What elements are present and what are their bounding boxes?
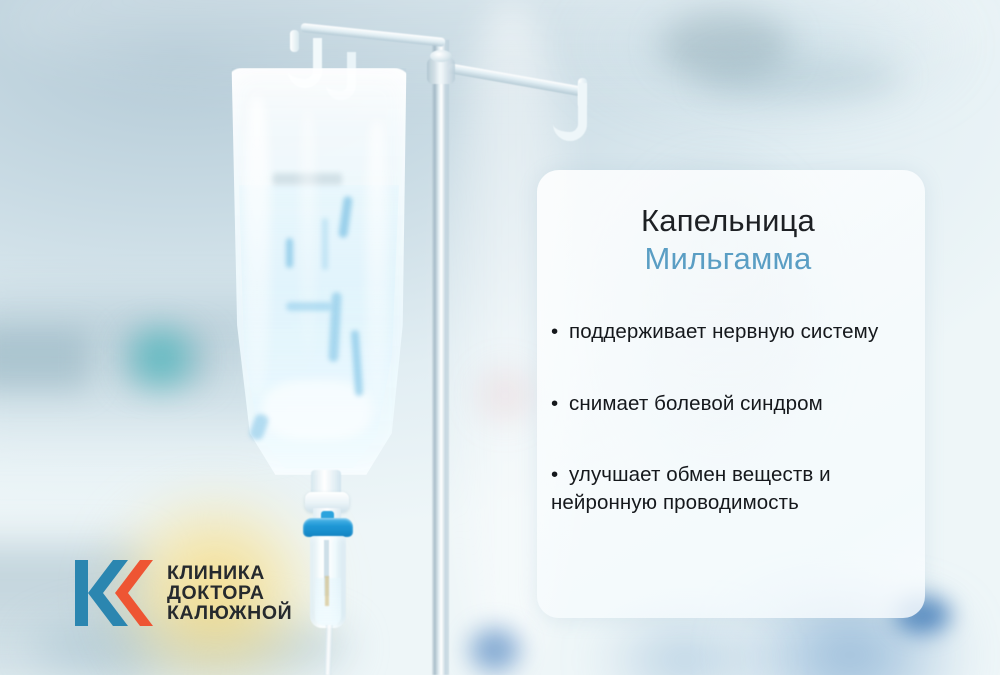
clinic-logo-text: КЛИНИКА ДОКТОРА КАЛЮЖНОЙ bbox=[167, 563, 292, 624]
drip-chamber-filter bbox=[325, 576, 329, 606]
background-blur-cabinet-panel-left bbox=[0, 330, 90, 390]
promo-banner: Капельница Мильгамма •поддерживает нервн… bbox=[0, 0, 1000, 675]
background-blur-pink-dot bbox=[470, 360, 540, 430]
background-blur-blue-dot-center bbox=[470, 628, 520, 672]
iv-bag-blue-mark-2 bbox=[286, 238, 293, 268]
bullet-dot-icon: • bbox=[551, 318, 569, 346]
benefit-item-3: •улучшает обмен веществ и нейронную пров… bbox=[551, 461, 911, 517]
clinic-logo-line1: КЛИНИКА bbox=[167, 563, 292, 583]
benefits-list: •поддерживает нервную систему •снимает б… bbox=[545, 318, 911, 518]
drip-chamber-cap bbox=[303, 518, 353, 537]
info-card: Капельница Мильгамма •поддерживает нервн… bbox=[537, 170, 925, 618]
bullet-dot-icon: • bbox=[551, 390, 569, 418]
clinic-logo-line3: КАЛЮЖНОЙ bbox=[167, 603, 292, 623]
iv-bag-blue-mark-7 bbox=[322, 218, 328, 270]
bullet-dot-icon: • bbox=[551, 461, 569, 489]
benefit-text-1: поддерживает нервную систему bbox=[569, 320, 878, 343]
card-title-line1: Капельница bbox=[545, 202, 911, 240]
background-blur-teal-dot bbox=[118, 318, 204, 398]
iv-stand-cap bbox=[430, 50, 452, 62]
iv-bag-highlight-right bbox=[366, 120, 388, 420]
iv-bag-blue-mark-4 bbox=[286, 302, 332, 311]
iv-stand-hook-right bbox=[553, 83, 587, 141]
iv-bag-highlight-center bbox=[300, 110, 316, 360]
benefit-item-1: •поддерживает нервную систему bbox=[551, 318, 911, 346]
card-title-line2: Мильгамма bbox=[545, 240, 911, 278]
kk-monogram-icon bbox=[75, 556, 153, 630]
benefit-text-2: снимает болевой синдром bbox=[569, 392, 823, 415]
iv-stand-pole bbox=[432, 40, 449, 675]
clinic-logo: КЛИНИКА ДОКТОРА КАЛЮЖНОЙ bbox=[75, 556, 292, 630]
iv-bag-highlight-left bbox=[244, 96, 270, 396]
benefit-item-2: •снимает болевой синдром bbox=[551, 390, 911, 418]
benefit-text-3: улучшает обмен веществ и нейронную прово… bbox=[551, 463, 831, 514]
clinic-logo-line2: ДОКТОРА bbox=[167, 583, 292, 603]
card-title: Капельница Мильгамма bbox=[545, 202, 911, 278]
